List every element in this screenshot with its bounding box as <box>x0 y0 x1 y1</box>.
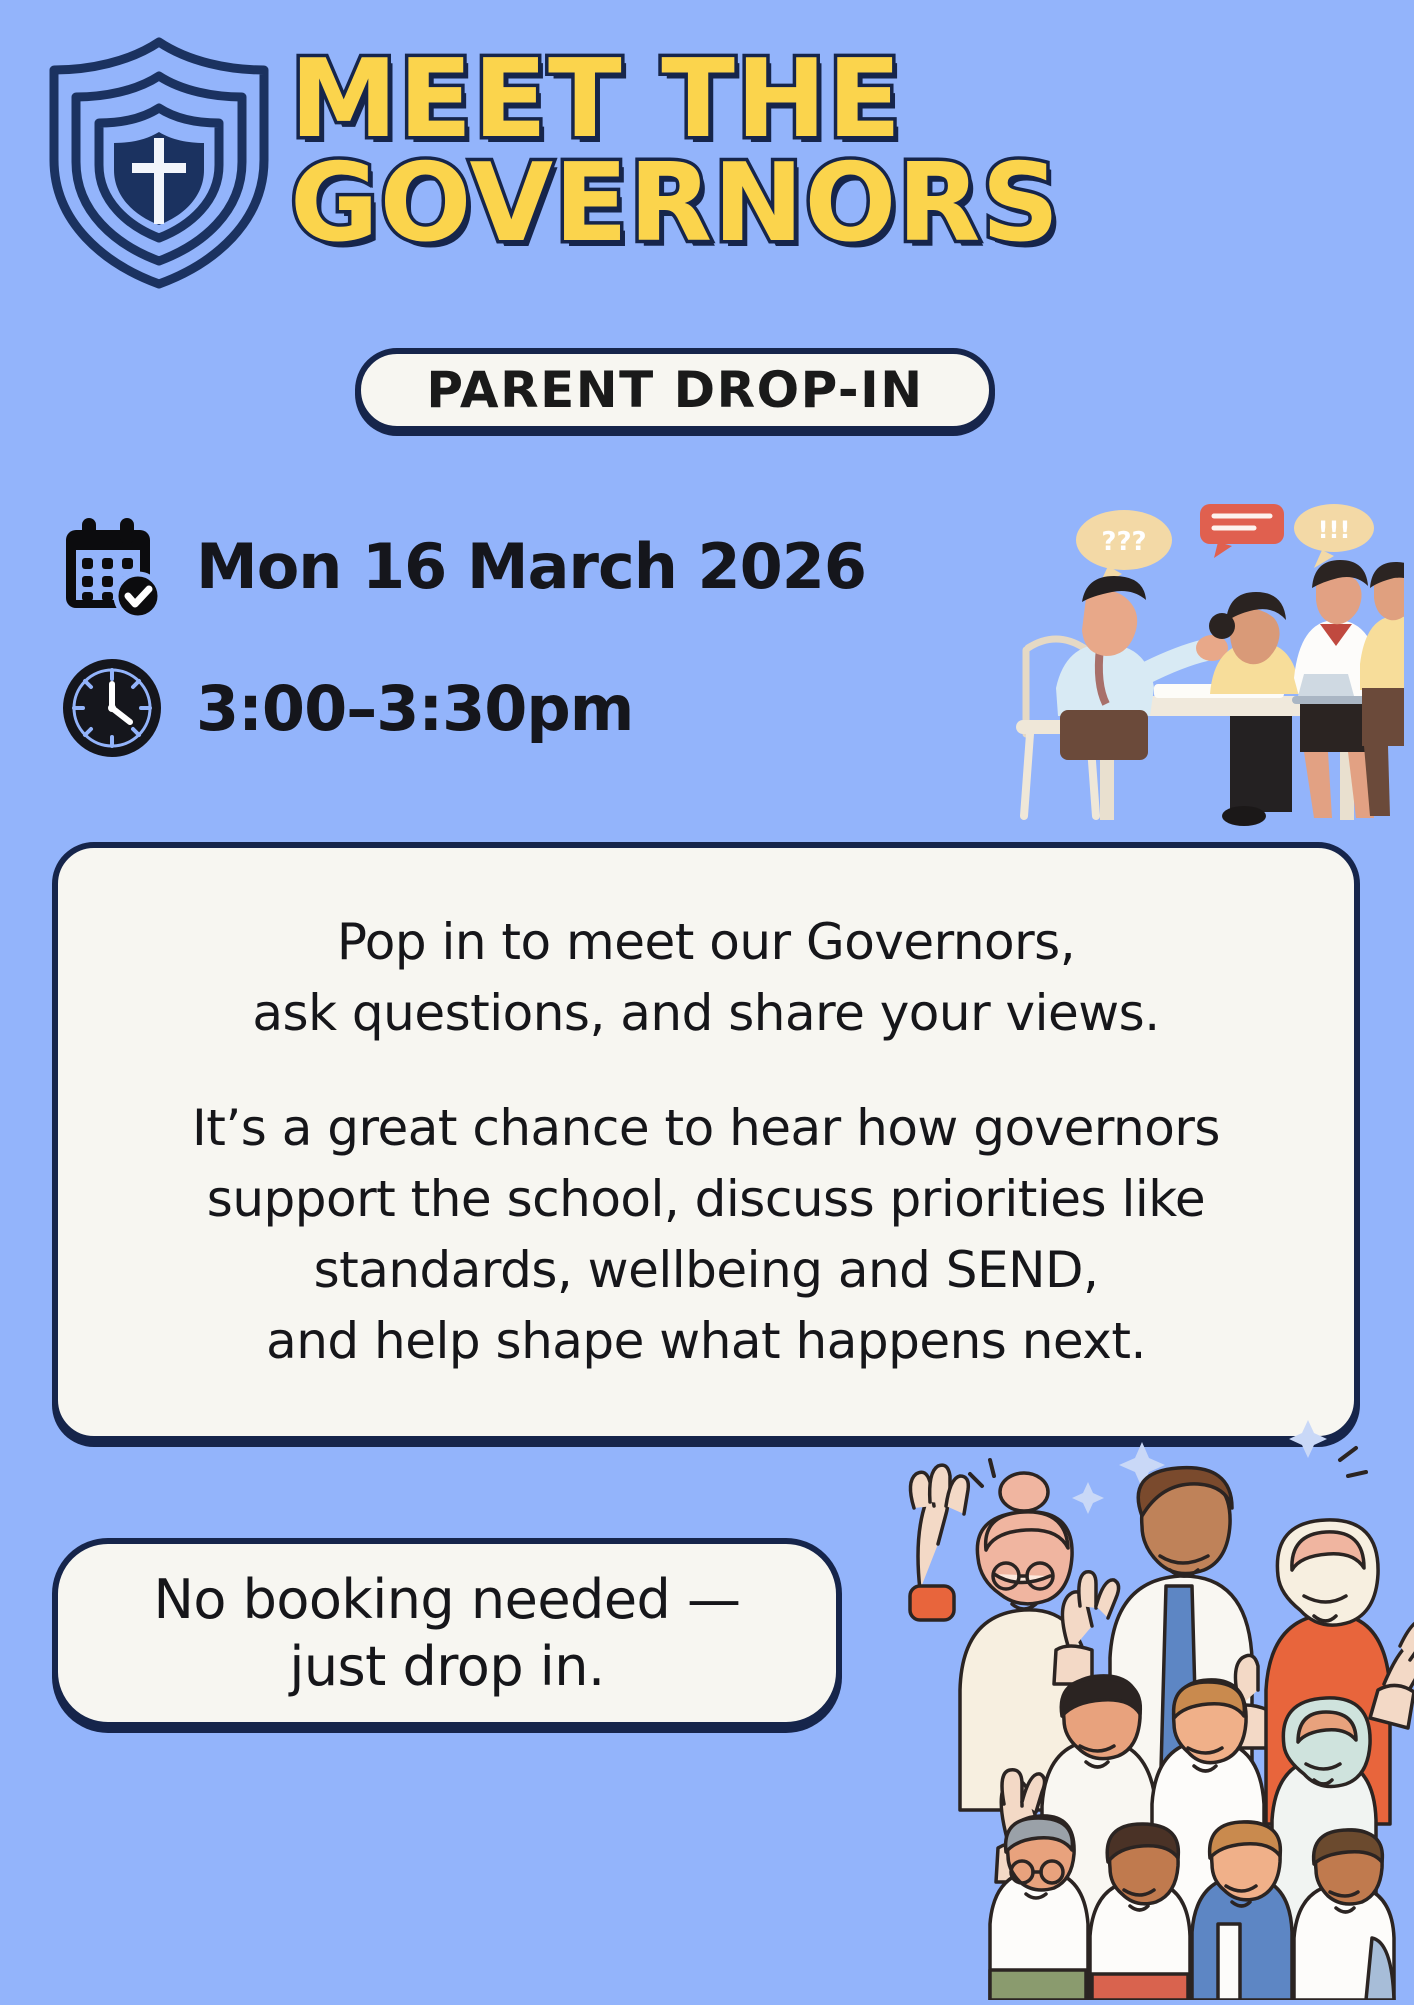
detail-row-time: 3:00–3:30pm <box>58 654 858 762</box>
poster-header: MEET THE GOVERNORS <box>0 26 1414 326</box>
body-text-card: Pop in to meet our Governors, ask questi… <box>52 842 1360 1442</box>
school-shield-cross-logo <box>34 32 284 292</box>
poster-canvas: MEET THE GOVERNORS PARENT DROP-IN <box>0 0 1414 2000</box>
speech-bubble-exclaim: !!! <box>1318 516 1351 544</box>
detail-row-date: Mon 16 March 2026 <box>58 512 858 620</box>
waving-crowd-illustration <box>874 1390 1414 2000</box>
title-line-1: MEET THE <box>290 50 1380 150</box>
event-details: Mon 16 March 2026 <box>58 512 858 796</box>
governors-meeting-illustration: ??? !!! <box>1004 498 1404 828</box>
badge-label: PARENT DROP-IN <box>426 361 923 419</box>
detail-time-text: 3:00–3:30pm <box>196 672 633 745</box>
body-paragraph-2: It’s a great chance to hear how governor… <box>192 1093 1220 1377</box>
detail-date-text: Mon 16 March 2026 <box>196 530 866 603</box>
title-line-2: GOVERNORS <box>290 154 1380 254</box>
booking-line-2: just drop in. <box>289 1633 604 1701</box>
status-badge: PARENT DROP-IN <box>355 348 995 432</box>
booking-note-card: No booking needed — just drop in. <box>52 1538 842 1728</box>
poster-title: MEET THE GOVERNORS <box>290 50 1380 255</box>
booking-line-1: No booking needed — <box>153 1566 740 1634</box>
clock-icon <box>58 654 166 762</box>
speech-bubble-question: ??? <box>1101 527 1146 557</box>
body-paragraph-1: Pop in to meet our Governors, ask questi… <box>252 907 1159 1049</box>
calendar-check-icon <box>58 512 166 620</box>
